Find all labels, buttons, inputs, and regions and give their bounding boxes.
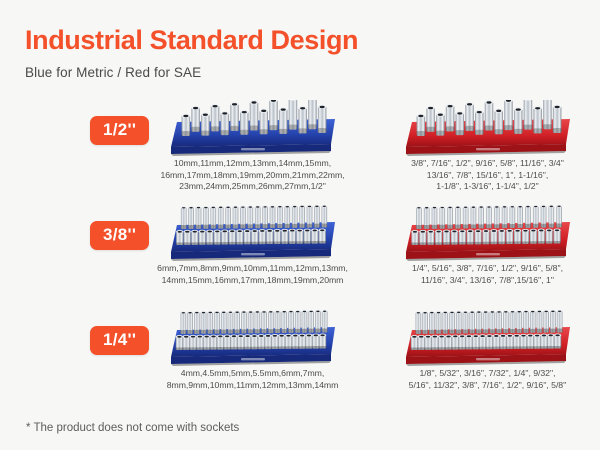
size-line: 10mm,11mm,12mm,13mm,14mm,15mm, bbox=[145, 158, 360, 170]
sae-panel: 1/8'', 5/32'', 3/16'', 7/32'', 1/4'', 9/… bbox=[380, 310, 595, 391]
size-badge[interactable]: 1/2'' bbox=[90, 116, 149, 145]
metric-panel: 4mm,4.5mm,5mm,5.5mm,6mm,7mm, 8mm,9mm,10m… bbox=[145, 310, 360, 391]
size-line: 13/16'', 7/8'', 15/16'', 1'', 1-1/16'', bbox=[380, 170, 595, 182]
metric-socket-tray bbox=[145, 310, 360, 368]
sae-socket-tray bbox=[380, 310, 595, 368]
header: Industrial Standard Design Blue for Metr… bbox=[25, 26, 575, 80]
metric-size-list: 10mm,11mm,12mm,13mm,14mm,15mm, 16mm,17mm… bbox=[145, 158, 360, 193]
size-line: 16mm,17mm,18mm,19mm,20mm,21mm,22mm, bbox=[145, 170, 360, 182]
metric-panel: 6mm,7mm,8mm,9mm,10mm,11mm,12mm,13mm, 14m… bbox=[145, 205, 360, 286]
metric-socket-tray bbox=[145, 205, 360, 263]
sae-panel: 3/8'', 7/16'', 1/2'', 9/16'', 5/8'', 11/… bbox=[380, 100, 595, 193]
size-line: 4mm,4.5mm,5mm,5.5mm,6mm,7mm, bbox=[145, 368, 360, 380]
sae-size-list: 3/8'', 7/16'', 1/2'', 9/16'', 5/8'', 11/… bbox=[380, 158, 595, 193]
size-line: 6mm,7mm,8mm,9mm,10mm,11mm,12mm,13mm, bbox=[145, 263, 360, 275]
size-line: 14mm,15mm,16mm,17mm,18mm,19mm,20mm bbox=[145, 275, 360, 287]
size-row: 1/4'' 4mm,4.5mm,5mm,5.5mm,6mm,7mm, 8mm,9… bbox=[0, 310, 600, 415]
size-line: 5/16'', 11/32'', 3/8'', 7/16'', 1/2'', 9… bbox=[380, 380, 595, 392]
size-badge[interactable]: 3/8'' bbox=[90, 221, 149, 250]
size-line: 11/16'', 3/4'', 13/16'', 7/8'',15/16'', … bbox=[380, 275, 595, 287]
metric-socket-tray bbox=[145, 100, 360, 158]
size-line: 1-1/8'', 1-3/16'', 1-1/4'', 1/2'' bbox=[380, 181, 595, 193]
size-badge[interactable]: 1/4'' bbox=[90, 326, 149, 355]
sae-size-list: 1/4'', 5/16'', 3/8'', 7/16'', 1/2'', 9/1… bbox=[380, 263, 595, 286]
size-rows: 1/2'' 10mm,11mm,12mm,13mm,14mm,15mm, 16m… bbox=[0, 100, 600, 415]
metric-size-list: 4mm,4.5mm,5mm,5.5mm,6mm,7mm, 8mm,9mm,10m… bbox=[145, 368, 360, 391]
size-line: 1/8'', 5/32'', 3/16'', 7/32'', 1/4'', 9/… bbox=[380, 368, 595, 380]
size-row: 3/8'' 6mm,7mm,8mm,9mm,10mm,11mm,12mm,13m… bbox=[0, 205, 600, 310]
footnote: * The product does not come with sockets bbox=[26, 422, 239, 434]
sae-socket-tray bbox=[380, 205, 595, 263]
size-line: 3/8'', 7/16'', 1/2'', 9/16'', 5/8'', 11/… bbox=[380, 158, 595, 170]
sae-panel: 1/4'', 5/16'', 3/8'', 7/16'', 1/2'', 9/1… bbox=[380, 205, 595, 286]
sae-socket-tray bbox=[380, 100, 595, 158]
size-line: 1/4'', 5/16'', 3/8'', 7/16'', 1/2'', 9/1… bbox=[380, 263, 595, 275]
size-line: 23mm,24mm,25mm,26mm,27mm,1/2'' bbox=[145, 181, 360, 193]
metric-size-list: 6mm,7mm,8mm,9mm,10mm,11mm,12mm,13mm, 14m… bbox=[145, 263, 360, 286]
metric-panel: 10mm,11mm,12mm,13mm,14mm,15mm, 16mm,17mm… bbox=[145, 100, 360, 193]
page-title: Industrial Standard Design bbox=[25, 26, 575, 56]
page-subtitle: Blue for Metric / Red for SAE bbox=[25, 65, 575, 80]
size-row: 1/2'' 10mm,11mm,12mm,13mm,14mm,15mm, 16m… bbox=[0, 100, 600, 205]
sae-size-list: 1/8'', 5/32'', 3/16'', 7/32'', 1/4'', 9/… bbox=[380, 368, 595, 391]
size-line: 8mm,9mm,10mm,11mm,12mm,13mm,14mm bbox=[145, 380, 360, 392]
